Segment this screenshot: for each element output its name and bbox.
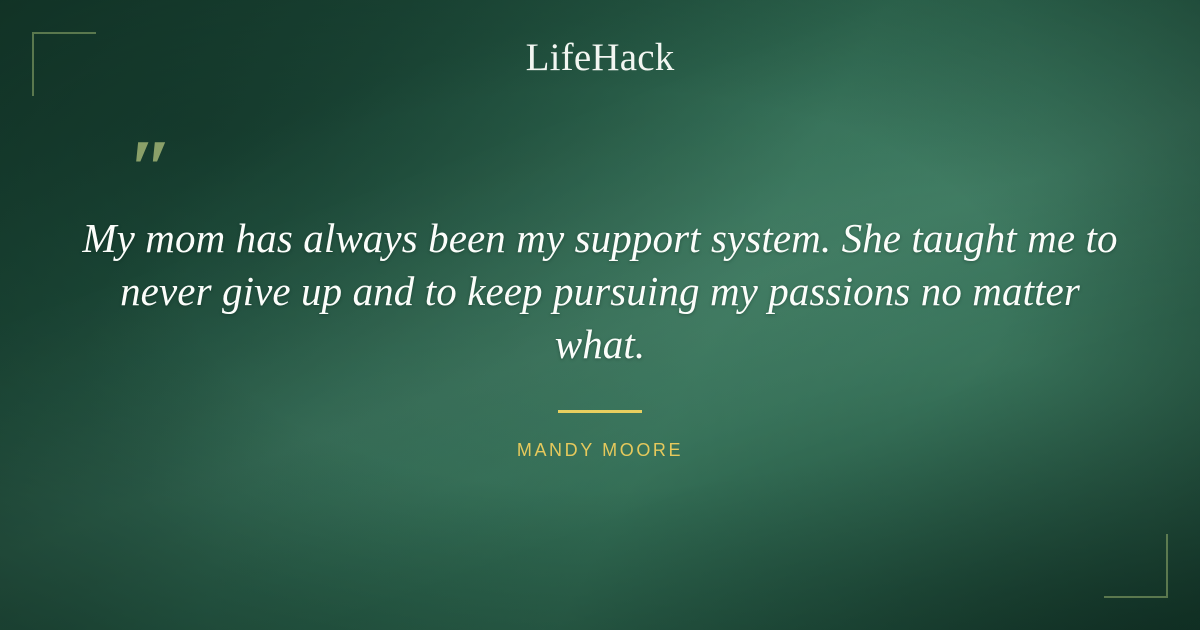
card-content: LifeHack ″ My mom has always been my sup… xyxy=(0,0,1200,630)
quote-line-3: what. xyxy=(555,321,646,367)
quote-author: MANDY MOORE xyxy=(0,440,1200,461)
brand-logo-text: LifeHack xyxy=(0,38,1200,77)
gold-divider xyxy=(558,410,642,413)
quote-line-1: My mom has always been my support system… xyxy=(82,215,1075,261)
quote-text: My mom has always been my support system… xyxy=(80,212,1120,371)
quotation-mark-icon: ″ xyxy=(128,128,173,210)
quote-card: LifeHack ″ My mom has always been my sup… xyxy=(0,0,1200,630)
